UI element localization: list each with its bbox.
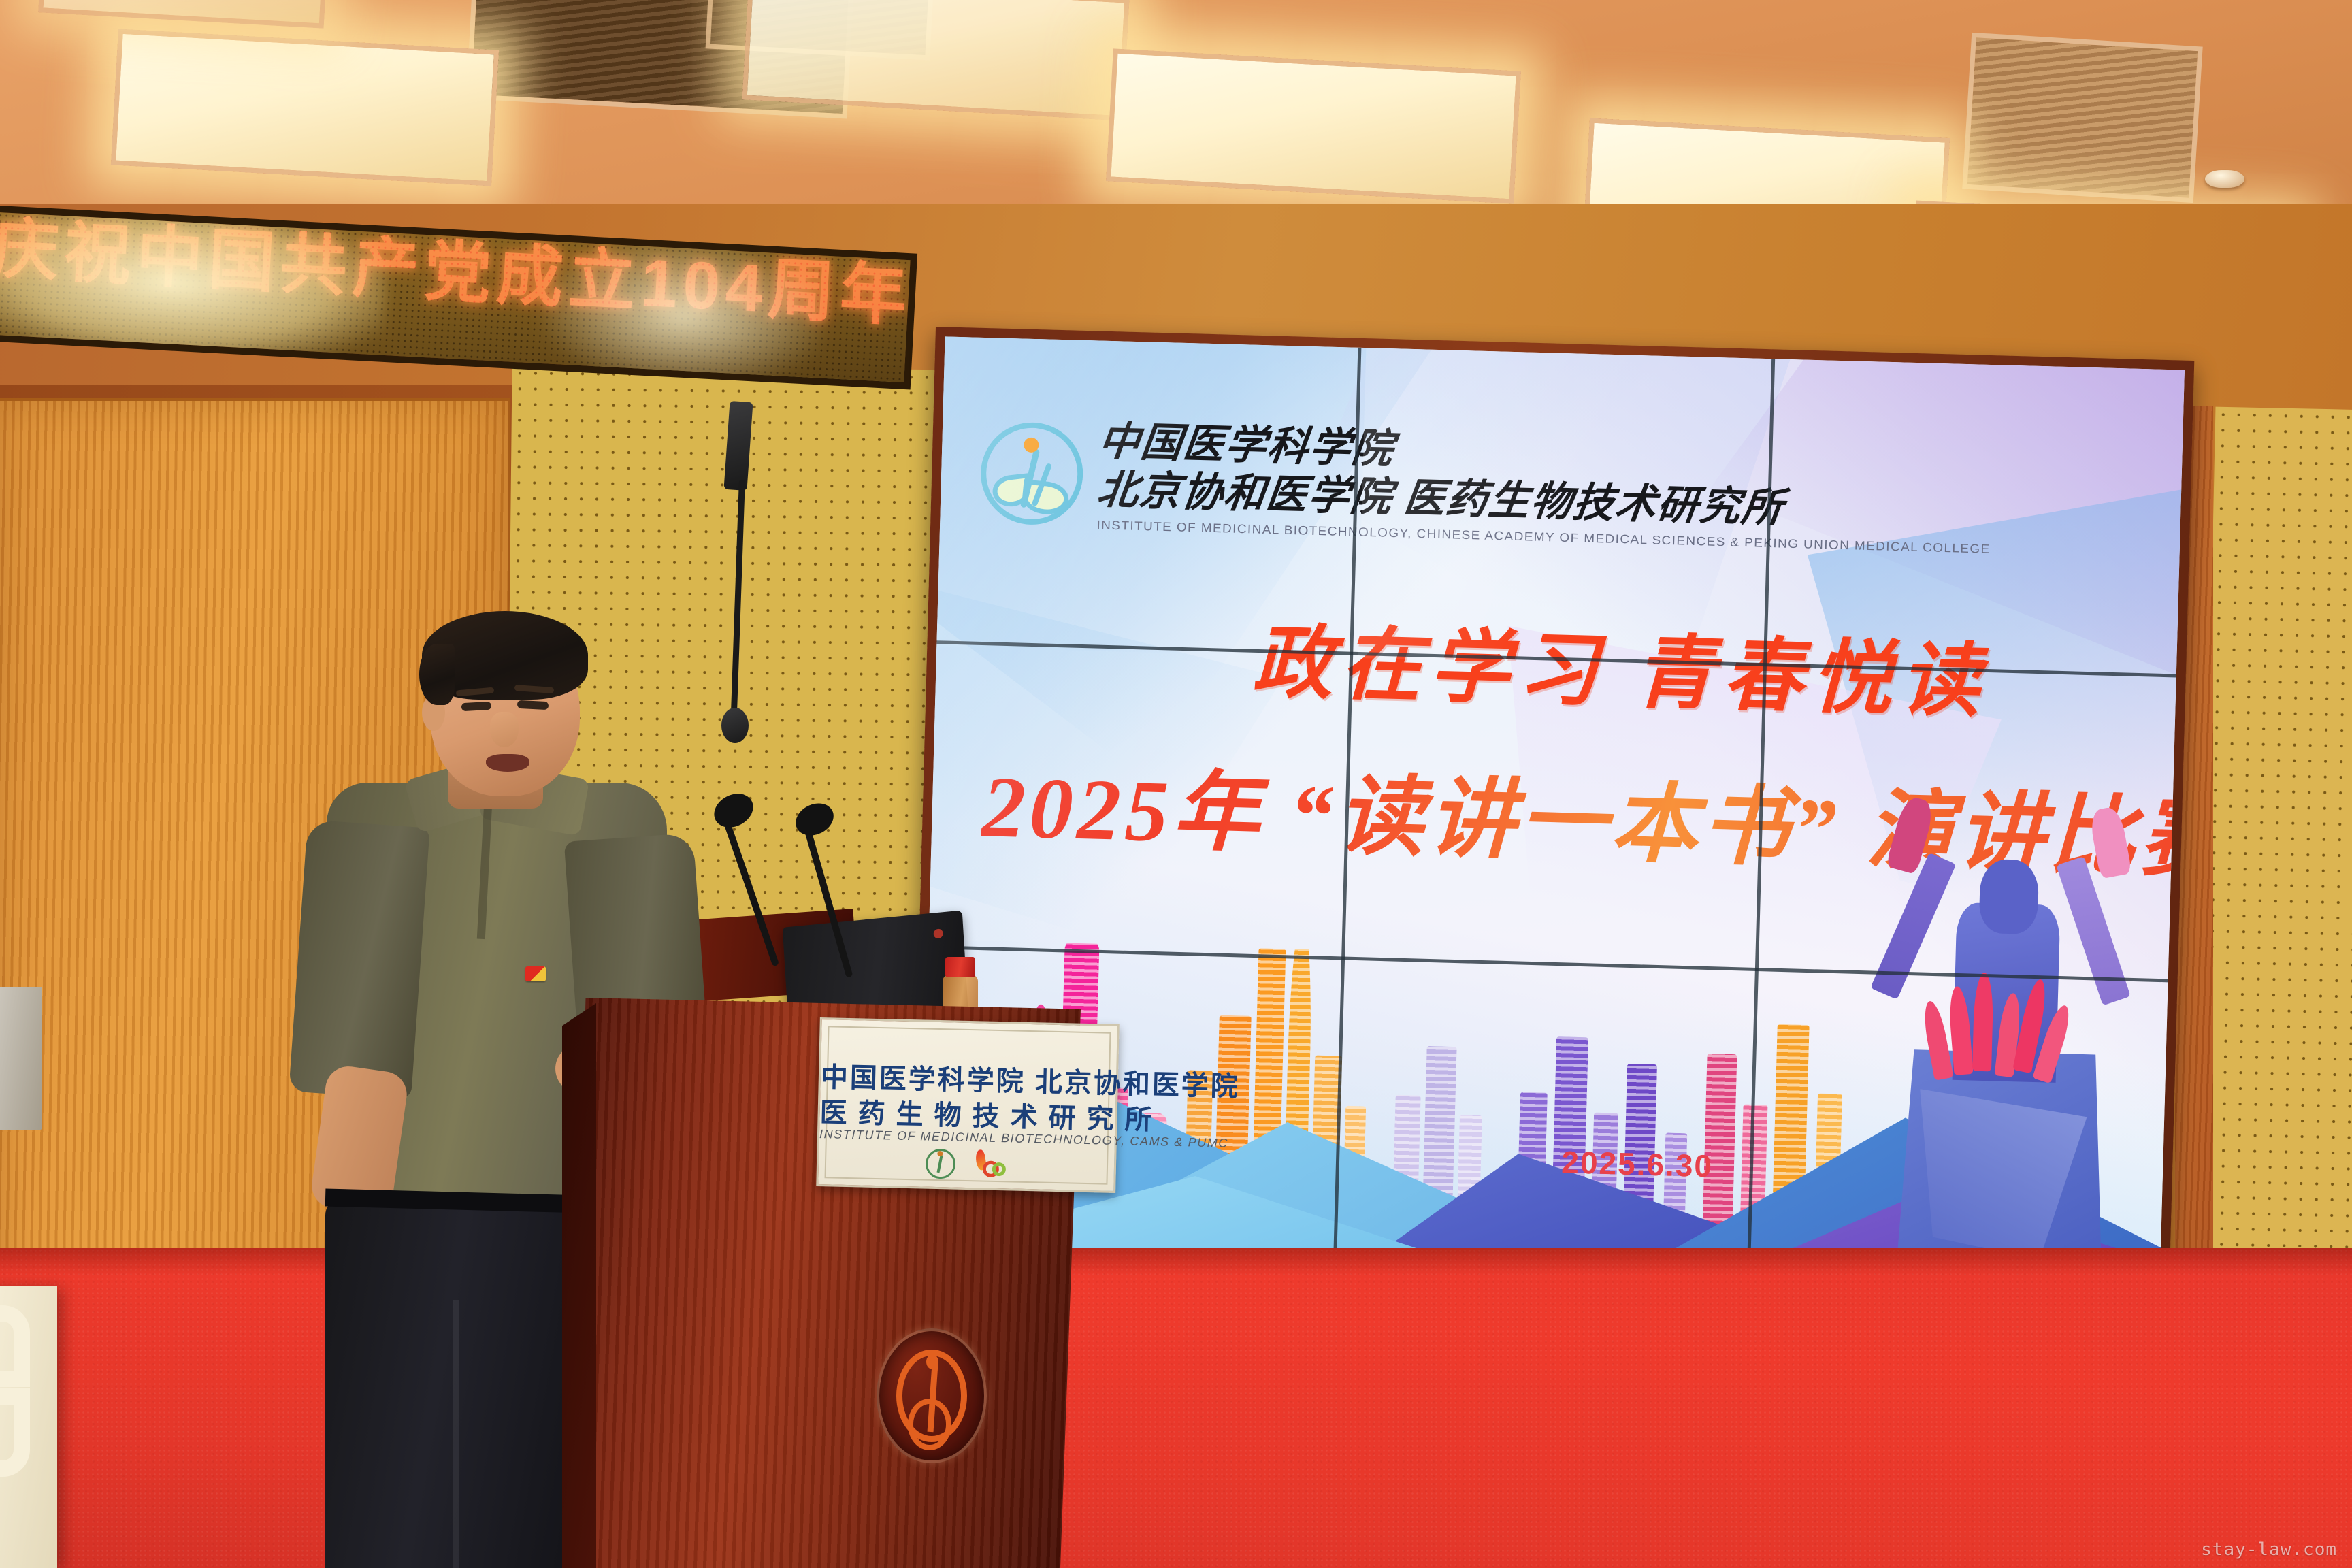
slide-orator-silhouette — [1837, 781, 2173, 1283]
speaker-hair-side — [419, 644, 455, 705]
bottle-cap — [945, 957, 975, 977]
orator-arm-right — [2057, 856, 2131, 1006]
watermark: stay-law.com — [2201, 1539, 2337, 1560]
orator-arm-left — [1870, 852, 1956, 999]
ceiling-light-panel — [111, 29, 499, 186]
orator-head — [1979, 859, 2039, 934]
anniversary-circle-green — [992, 1162, 1006, 1176]
ceiling-light-panel — [38, 0, 329, 29]
lectern-emblem-icon — [877, 1328, 987, 1463]
speaker-sleeve-left — [289, 819, 429, 1100]
speaker-mouth — [486, 754, 529, 772]
slide-headline: 政在学习 青春悦读 — [1251, 596, 1990, 732]
lectern-side-panel — [562, 1003, 596, 1568]
ceiling-vent — [1962, 33, 2202, 203]
slide-logo-text: 中国医学科学院 北京协和医学院 医药生物技术研究所 INSTITUTE OF M… — [1096, 417, 1993, 557]
emblem-circle — [908, 1399, 952, 1450]
smoke-detector-icon — [2205, 170, 2244, 188]
speaker-eye-right — [517, 700, 549, 710]
ceiling-light-panel — [1106, 48, 1521, 203]
ceiling-light-panel — [742, 0, 1129, 120]
laptop-logo-icon — [933, 928, 943, 938]
party-membership-pin — [525, 966, 546, 981]
speaker-trouser-crease — [453, 1300, 459, 1568]
floor-standee: 所 — [0, 1286, 57, 1568]
institute-mini-logo-icon — [926, 1149, 956, 1179]
anniversary-logo-icon — [973, 1149, 1008, 1180]
lectern-nameplate: 中国医学科学院 北京协和医学院 医药生物技术研究所 INSTITUTE OF M… — [816, 1017, 1120, 1193]
standee-glyph-bottom — [0, 1388, 30, 1477]
wall-speaker — [0, 987, 42, 1130]
light-glare — [540, 233, 827, 389]
speaker-nose — [490, 712, 519, 747]
photo-scene: 庆祝中国共产党成立104周年表彰大会 — [0, 0, 2352, 1568]
orator-fist-right — [2089, 806, 2133, 879]
speaker-eye-left — [461, 702, 492, 711]
standee-glyph-top — [0, 1305, 30, 1387]
city-building — [1702, 1053, 1737, 1228]
slide-date: 2025.6.30 — [1561, 1143, 1714, 1184]
institute-circular-logo-icon — [980, 421, 1085, 526]
